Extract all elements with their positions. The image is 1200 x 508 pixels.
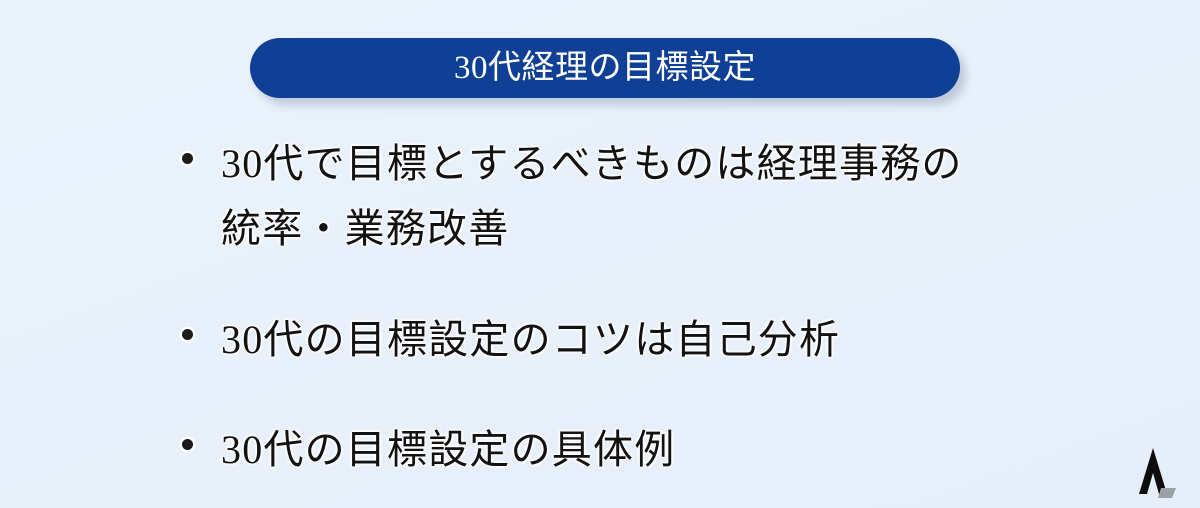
caret-logo-icon: [1120, 444, 1186, 502]
title-banner: 30代経理の目標設定: [250, 38, 960, 98]
list-item-text: 30代で目標とするべきものは経理事務の 統率・業務改善: [221, 132, 1082, 262]
bullet-dot-icon: [182, 153, 193, 164]
list-item: 30代の目標設定の具体例: [182, 418, 1082, 483]
page-title: 30代経理の目標設定: [454, 52, 756, 85]
bullet-dot-icon: [182, 439, 193, 450]
bullet-list: 30代で目標とするべきものは経理事務の 統率・業務改善 30代の目標設定のコツは…: [182, 132, 1082, 483]
list-item-text: 30代の目標設定の具体例: [221, 418, 1082, 483]
bullet-dot-icon: [182, 329, 193, 340]
list-item-text: 30代の目標設定のコツは自己分析: [221, 308, 1082, 373]
list-item-line: 統率・業務改善: [221, 197, 1082, 262]
slide-canvas: 30代経理の目標設定 30代で目標とするべきものは経理事務の 統率・業務改善 3…: [0, 0, 1200, 508]
list-item-line: 30代で目標とするべきものは経理事務の: [221, 132, 1082, 197]
list-item: 30代で目標とするべきものは経理事務の 統率・業務改善: [182, 132, 1082, 262]
list-item: 30代の目標設定のコツは自己分析: [182, 308, 1082, 373]
list-item-line: 30代の目標設定の具体例: [221, 418, 1082, 483]
list-item-line: 30代の目標設定のコツは自己分析: [221, 308, 1082, 373]
